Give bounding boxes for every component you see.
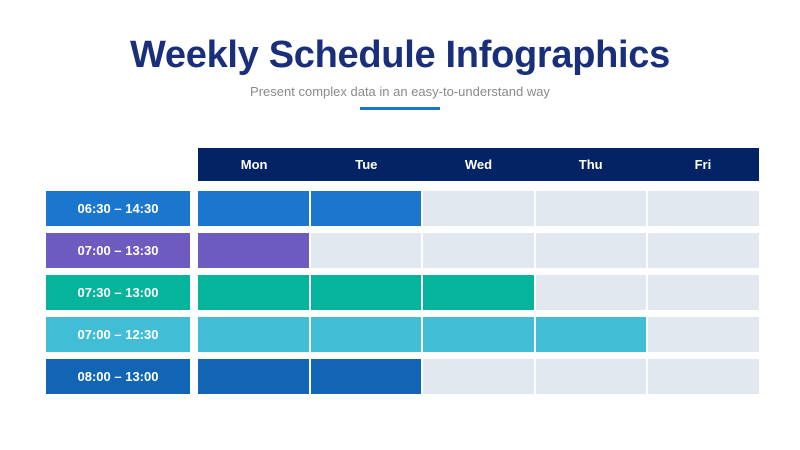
schedule-cell-filled[interactable] <box>311 275 422 310</box>
schedule-cell-filled[interactable] <box>311 191 422 226</box>
day-header-thu: Thu <box>535 148 647 181</box>
schedule-cell-empty[interactable] <box>648 233 759 268</box>
time-range-label[interactable]: 06:30 – 14:30 <box>46 191 190 226</box>
schedule-cell-empty[interactable] <box>536 275 647 310</box>
schedule-row: 08:00 – 13:00 <box>0 359 800 394</box>
schedule-track <box>198 233 759 268</box>
day-header-wed: Wed <box>422 148 534 181</box>
day-header-tue: Tue <box>310 148 422 181</box>
schedule-cell-empty[interactable] <box>423 359 534 394</box>
schedule-track <box>198 317 759 352</box>
schedule-cell-filled[interactable] <box>198 191 309 226</box>
day-header-fri: Fri <box>647 148 759 181</box>
schedule-row: 07:30 – 13:00 <box>0 275 800 310</box>
time-range-label[interactable]: 07:00 – 12:30 <box>46 317 190 352</box>
schedule-cell-empty[interactable] <box>536 359 647 394</box>
schedule-cell-empty[interactable] <box>648 191 759 226</box>
schedule-cell-filled[interactable] <box>198 359 309 394</box>
schedule-cell-filled[interactable] <box>423 317 534 352</box>
schedule-cell-empty[interactable] <box>648 359 759 394</box>
schedule-track <box>198 191 759 226</box>
schedule-cell-filled[interactable] <box>536 317 647 352</box>
schedule-track <box>198 275 759 310</box>
schedule-cell-filled[interactable] <box>198 317 309 352</box>
schedule-row: 07:00 – 13:30 <box>0 233 800 268</box>
schedule-cell-filled[interactable] <box>311 317 422 352</box>
schedule-cell-filled[interactable] <box>311 359 422 394</box>
schedule-cell-empty[interactable] <box>648 275 759 310</box>
schedule-cell-empty[interactable] <box>536 233 647 268</box>
schedule-cell-empty[interactable] <box>423 191 534 226</box>
schedule-cell-filled[interactable] <box>198 233 309 268</box>
schedule-cell-filled[interactable] <box>423 275 534 310</box>
schedule-cell-empty[interactable] <box>423 233 534 268</box>
schedule-cell-empty[interactable] <box>311 233 422 268</box>
schedule-header-row: MonTueWedThuFri <box>198 148 759 181</box>
weekly-schedule-table: MonTueWedThuFri 06:30 – 14:3007:00 – 13:… <box>0 0 800 450</box>
time-range-label[interactable]: 07:30 – 13:00 <box>46 275 190 310</box>
time-range-label[interactable]: 07:00 – 13:30 <box>46 233 190 268</box>
schedule-cell-empty[interactable] <box>648 317 759 352</box>
slide-root: Weekly Schedule Infographics Present com… <box>0 0 800 450</box>
time-range-label[interactable]: 08:00 – 13:00 <box>46 359 190 394</box>
schedule-cell-empty[interactable] <box>536 191 647 226</box>
day-header-mon: Mon <box>198 148 310 181</box>
schedule-cell-filled[interactable] <box>198 275 309 310</box>
schedule-row: 06:30 – 14:30 <box>0 191 800 226</box>
schedule-track <box>198 359 759 394</box>
schedule-row: 07:00 – 12:30 <box>0 317 800 352</box>
